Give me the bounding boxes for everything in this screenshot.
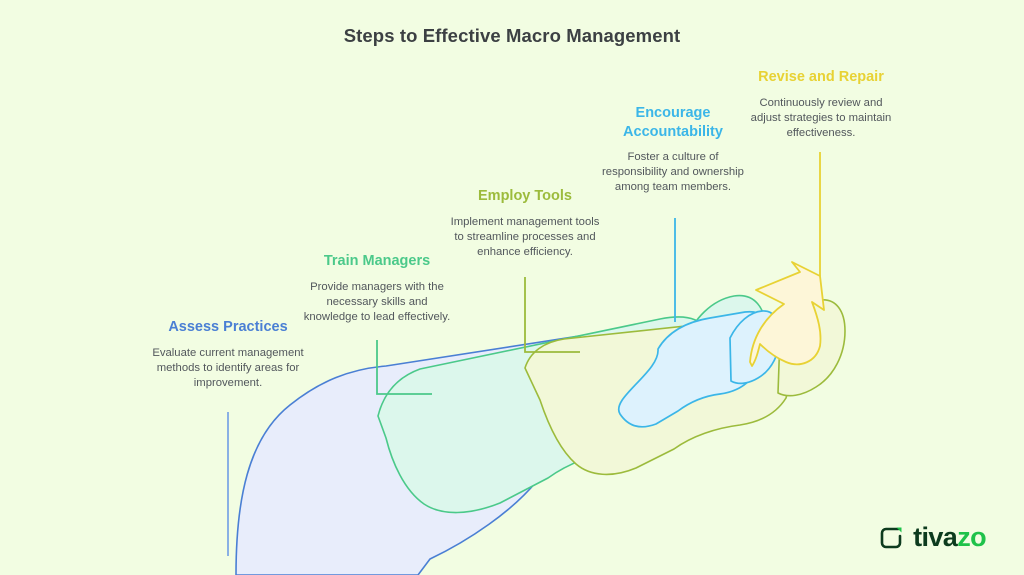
step-title-assess-practices: Assess Practices (152, 318, 304, 337)
step-description-assess-practices: Evaluate current management methods to i… (152, 346, 304, 391)
step-block-train-managers: Train Managers Provide managers with the… (301, 252, 453, 325)
step-title-employ-tools: Employ Tools (449, 187, 601, 206)
step-description-employ-tools: Implement management tools to streamline… (449, 215, 601, 260)
step-title-revise-and-repair: Revise and Repair (745, 68, 897, 87)
tivazo-logo: tivazo (878, 524, 986, 551)
step-description-encourage-accountability: Foster a culture of responsibility and o… (597, 150, 749, 195)
page-title: Steps to Effective Macro Management (0, 25, 1024, 47)
step-block-encourage-accountability: Encourage Accountability Foster a cultur… (597, 104, 749, 195)
step-block-assess-practices: Assess Practices Evaluate current manage… (152, 318, 304, 391)
step-block-employ-tools: Employ Tools Implement management tools … (449, 187, 601, 260)
logo-wordmark: tivazo (913, 524, 986, 551)
logo-text-part2: zo (957, 522, 986, 552)
step-title-encourage-accountability: Encourage Accountability (597, 104, 749, 141)
step-title-train-managers: Train Managers (301, 252, 453, 271)
infographic-canvas: Steps to Effective Macro Management Asse… (0, 0, 1024, 575)
step-block-revise-and-repair: Revise and Repair Continuously review an… (745, 68, 897, 141)
logo-text-part1: tiva (913, 522, 957, 552)
step-description-revise-and-repair: Continuously review and adjust strategie… (745, 96, 897, 141)
step-description-train-managers: Provide managers with the necessary skil… (301, 280, 453, 325)
bracket-square-icon (878, 525, 904, 551)
